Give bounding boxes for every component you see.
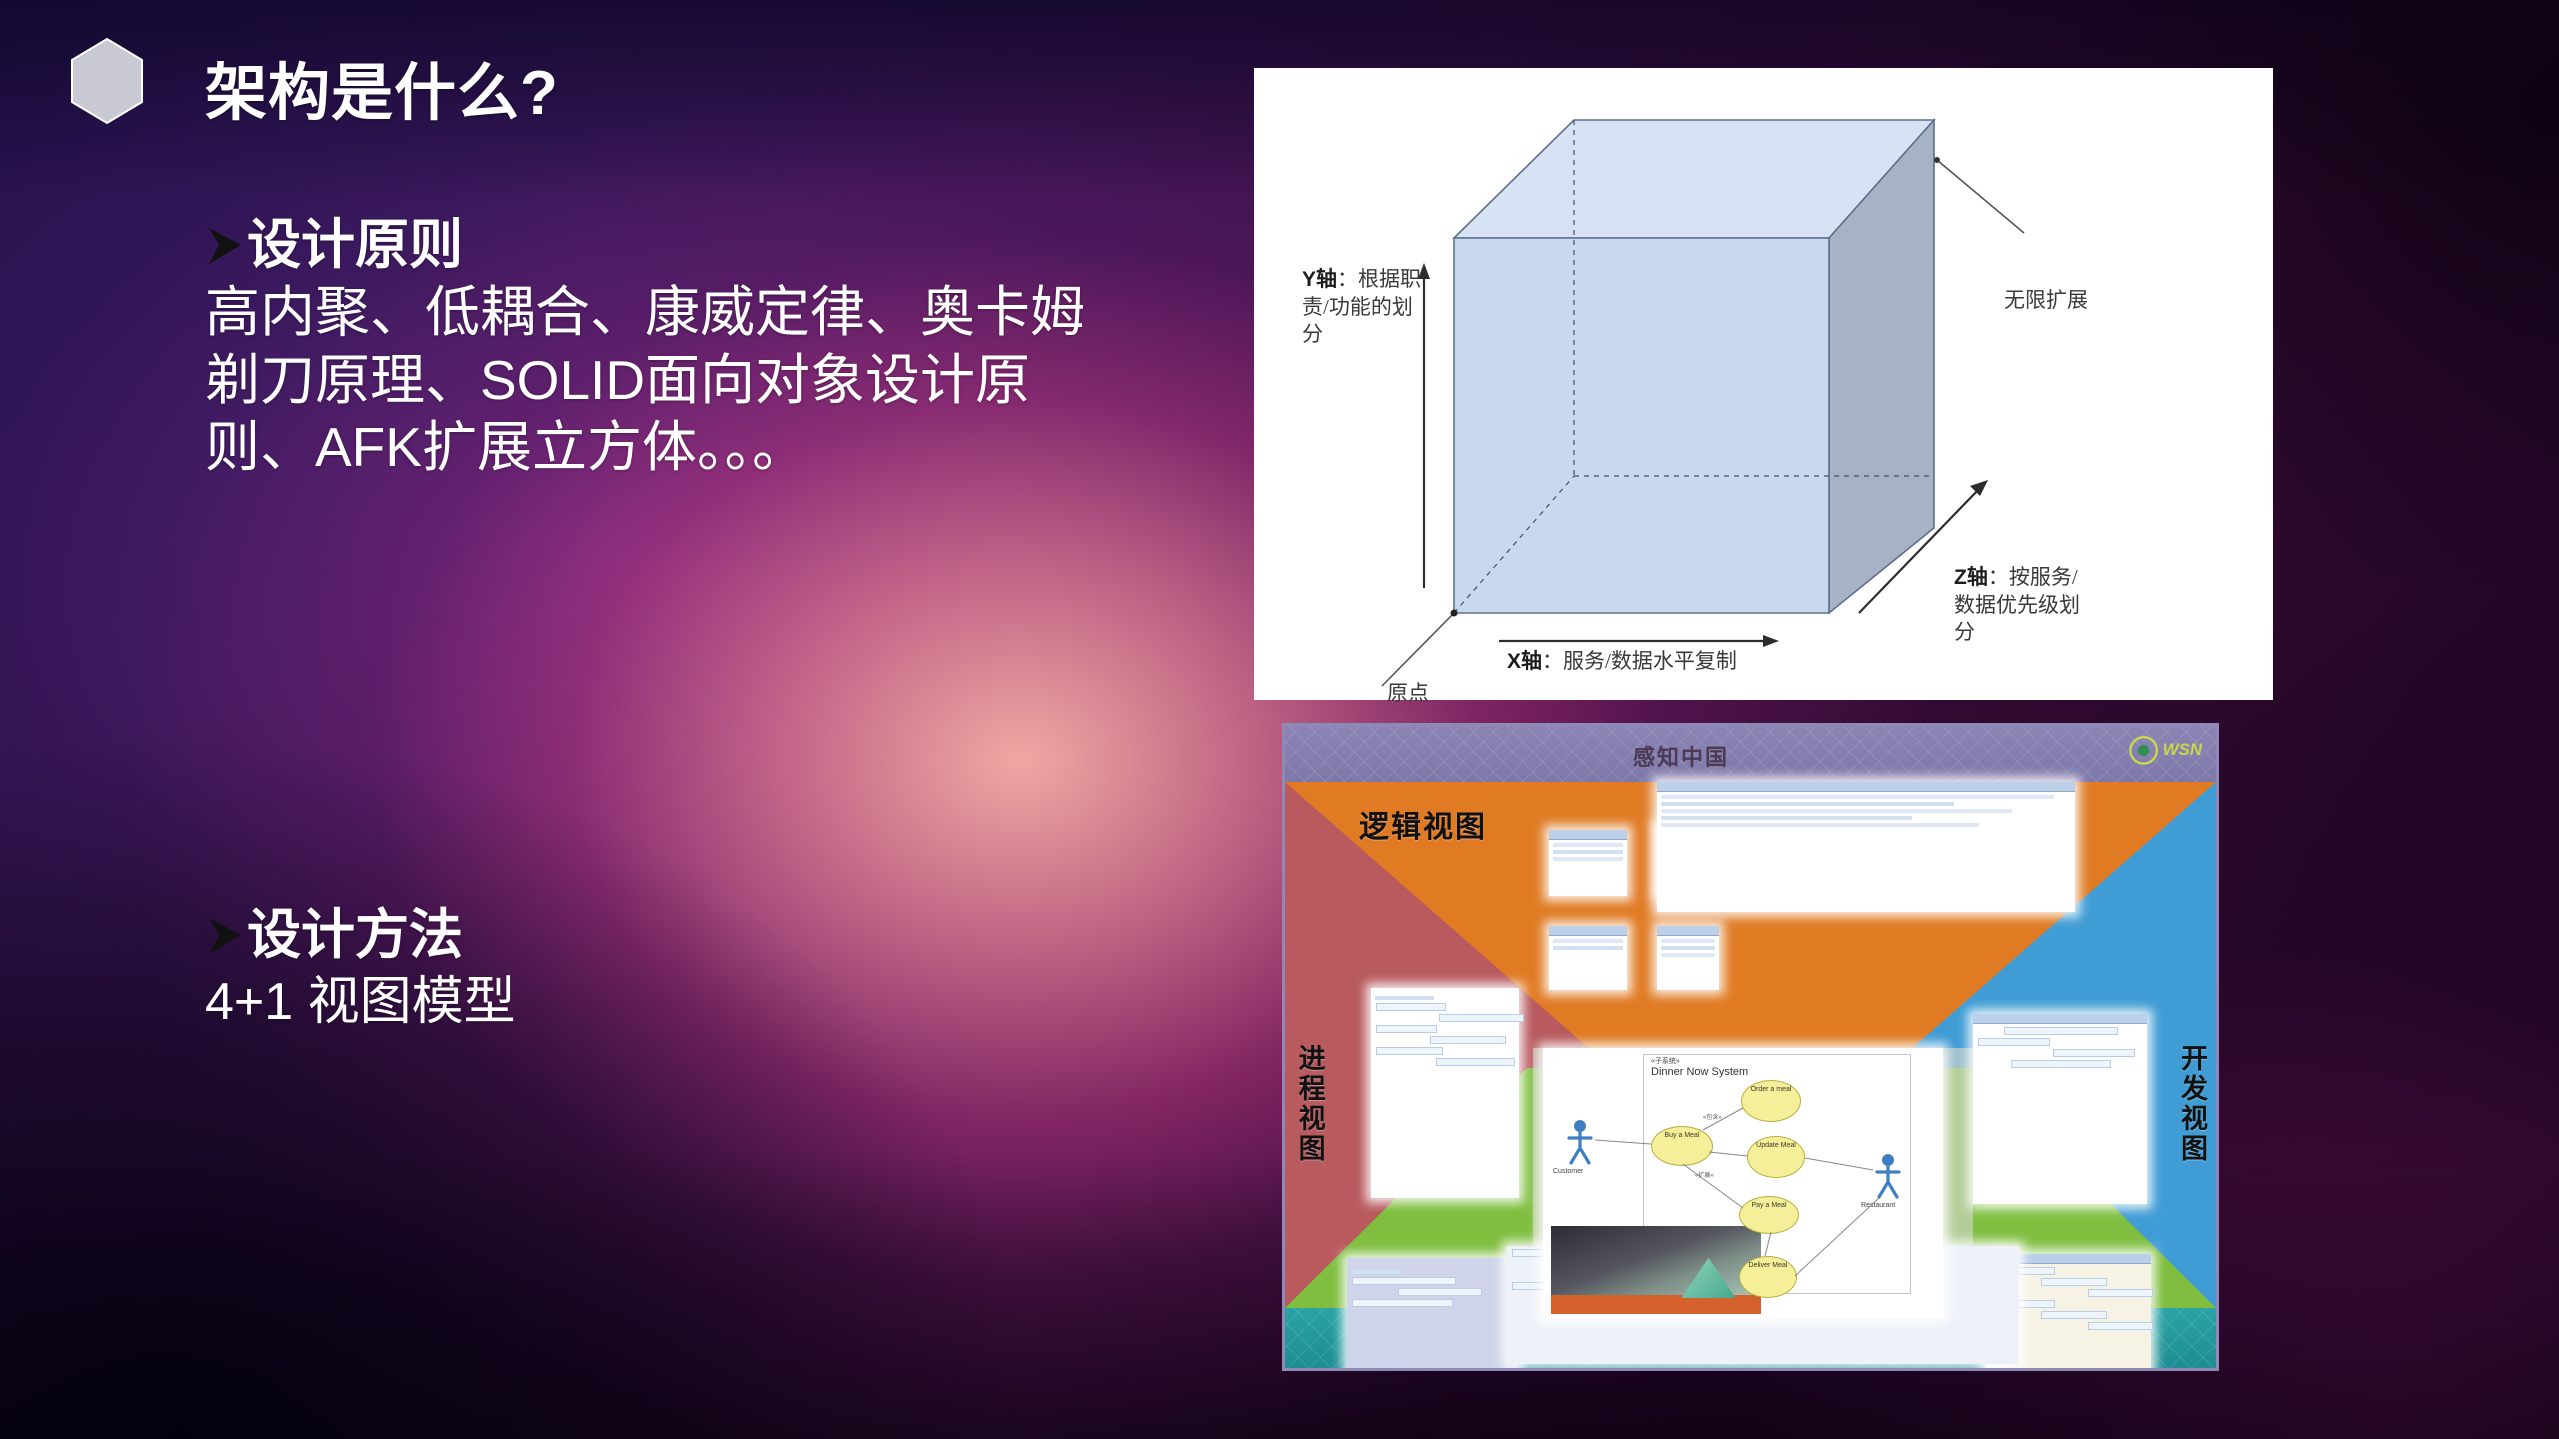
cube-origin-label: 原点 xyxy=(1387,680,1429,708)
label-logical-view: 逻辑视图 xyxy=(1359,802,1487,846)
cube-z-axis-label: Z轴：按服务/数据优先级划分 xyxy=(1954,564,2084,647)
page-title: 架构是什么? xyxy=(205,42,559,132)
arrow-bullet-icon-2 xyxy=(205,914,247,958)
cube-x-axis-label-rest: ：服务/数据水平复制 xyxy=(1542,649,1737,673)
stereotype-include: «包含» xyxy=(1703,1112,1722,1121)
arrow-bullet-icon xyxy=(205,224,247,268)
section-design-methods: 设计方法 4+1 视图模型 xyxy=(205,908,1165,1033)
section-heading-row: 设计原则 xyxy=(205,218,1165,273)
cube-x-axis-label-bold: X轴 xyxy=(1507,650,1542,673)
afk-scale-cube-figure: Y轴：根据职责/功能的划分 Z轴：按服务/数据优先级划分 X轴：服务/数据水平复… xyxy=(1254,68,2273,700)
mini-activity-diagram xyxy=(1371,988,1519,1198)
top-wsn-logo: WSN xyxy=(2129,736,2202,765)
wsn-wordmark: WSN xyxy=(2163,741,2202,760)
afk-cube-drawing xyxy=(1254,68,2273,700)
presentation-slide: 架构是什么? 设计原则 高内聚、低耦合、康威定律、奥卡姆剃刀原理、SOLID面向… xyxy=(0,0,2559,1439)
top-banner xyxy=(1285,726,2216,782)
body-design-principles: 高内聚、低耦合、康威定律、奥卡姆剃刀原理、SOLID面向对象设计原则、AFK扩展… xyxy=(205,279,1110,482)
mini-component-diagram xyxy=(1973,1014,2147,1204)
top-banner-label: 感知中国 xyxy=(1633,740,1729,772)
mini-state-network-diagram xyxy=(1347,1258,1517,1371)
four-plus-one-view-model-figure: 感知中国 WSN 物理视图 WSN 无锡物联网产业研究院 逻辑视图 进程视图 开… xyxy=(1282,723,2219,1371)
slide-left-content: 架构是什么? 设计原则 高内聚、低耦合、康威定律、奥卡姆剃刀原理、SOLID面向… xyxy=(0,0,1240,1439)
top-banner-grid-texture xyxy=(1285,726,2216,782)
label-development-view: 开发视图 xyxy=(2177,1044,2206,1164)
wsn-ring-icon xyxy=(2129,736,2158,765)
cube-y-axis-label-bold: Y轴 xyxy=(1302,268,1337,291)
section-heading-row-2: 设计方法 xyxy=(205,908,1165,963)
use-case-diagram-panel: «子系统» Dinner Now System Order a meal Buy… xyxy=(1543,1048,1943,1318)
cube-z-axis-label-bold: Z轴 xyxy=(1954,566,1988,589)
cube-infinite-scale-label: 无限扩展 xyxy=(2004,287,2088,315)
hexagon-bullet-icon xyxy=(68,36,146,126)
heading-design-principles: 设计原则 xyxy=(247,218,463,273)
cube-x-axis-label: X轴：服务/数据水平复制 xyxy=(1507,648,1737,676)
label-process-view: 进程视图 xyxy=(1295,1044,1324,1164)
body-design-methods: 4+1 视图模型 xyxy=(205,971,1165,1033)
section-design-principles: 设计原则 高内聚、低耦合、康威定律、奥卡姆剃刀原理、SOLID面向对象设计原则、… xyxy=(205,218,1165,482)
mini-class-diagram-a xyxy=(1549,830,1627,896)
heading-design-methods: 设计方法 xyxy=(247,908,463,963)
use-case-relationship-lines xyxy=(1543,1048,1943,1318)
mini-sequence-diagram xyxy=(1657,782,2075,912)
cube-y-axis-label: Y轴：根据职责/功能的划分 xyxy=(1302,266,1432,349)
stereotype-extend: «扩展» xyxy=(1695,1170,1714,1179)
mini-class-diagram-c xyxy=(1549,926,1627,990)
mini-class-diagram-d xyxy=(1657,926,1719,990)
